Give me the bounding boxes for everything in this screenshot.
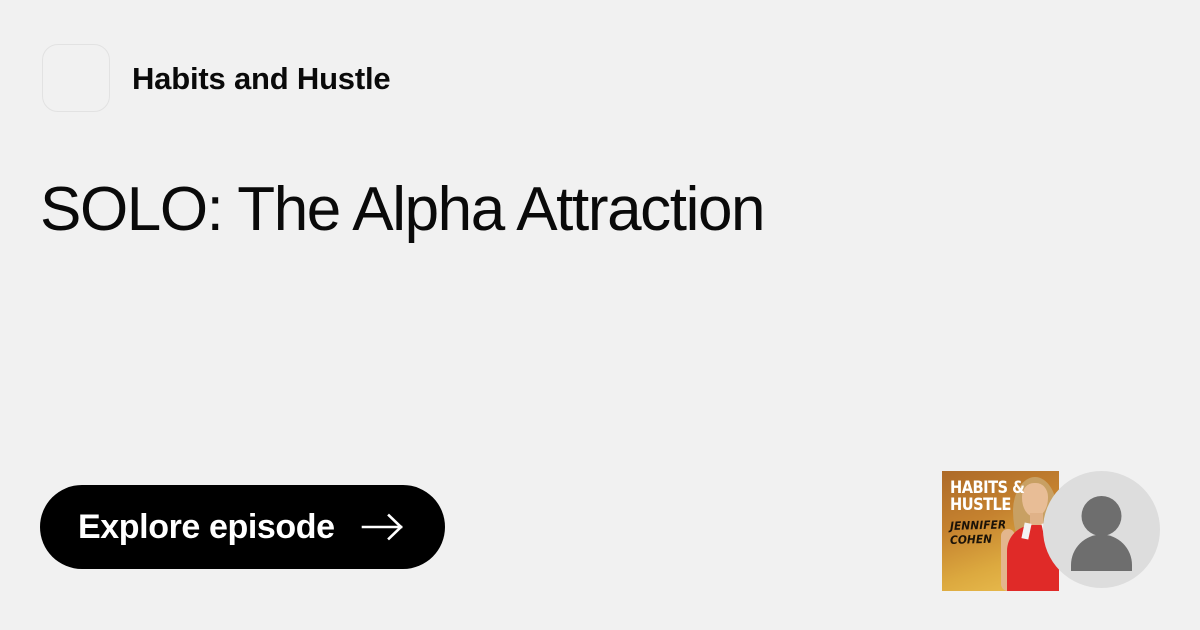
podcast-cover-art: HABITS & HUSTLE JENNIFER COHEN — [942, 471, 1059, 591]
person-icon — [1043, 471, 1160, 588]
cover-art-text: HABITS & HUSTLE JENNIFER COHEN — [950, 480, 1024, 546]
cover-art-host-line-2: COHEN — [950, 532, 1018, 546]
show-header: Habits and Hustle — [42, 44, 390, 112]
media-cluster: HABITS & HUSTLE JENNIFER COHEN — [942, 471, 1160, 591]
cover-art-host-line-1: JENNIFER — [950, 518, 1018, 532]
show-name: Habits and Hustle — [132, 63, 390, 94]
episode-share-card: Habits and Hustle SOLO: The Alpha Attrac… — [0, 0, 1200, 630]
explore-episode-button[interactable]: Explore episode — [40, 485, 445, 569]
cover-art-title-line-2: HUSTLE — [950, 497, 1014, 514]
avatar — [1043, 471, 1160, 588]
explore-episode-label: Explore episode — [78, 510, 335, 544]
arrow-right-icon — [361, 512, 405, 542]
episode-title: SOLO: The Alpha Attraction — [40, 175, 1130, 244]
show-artwork-placeholder-icon — [42, 44, 110, 112]
